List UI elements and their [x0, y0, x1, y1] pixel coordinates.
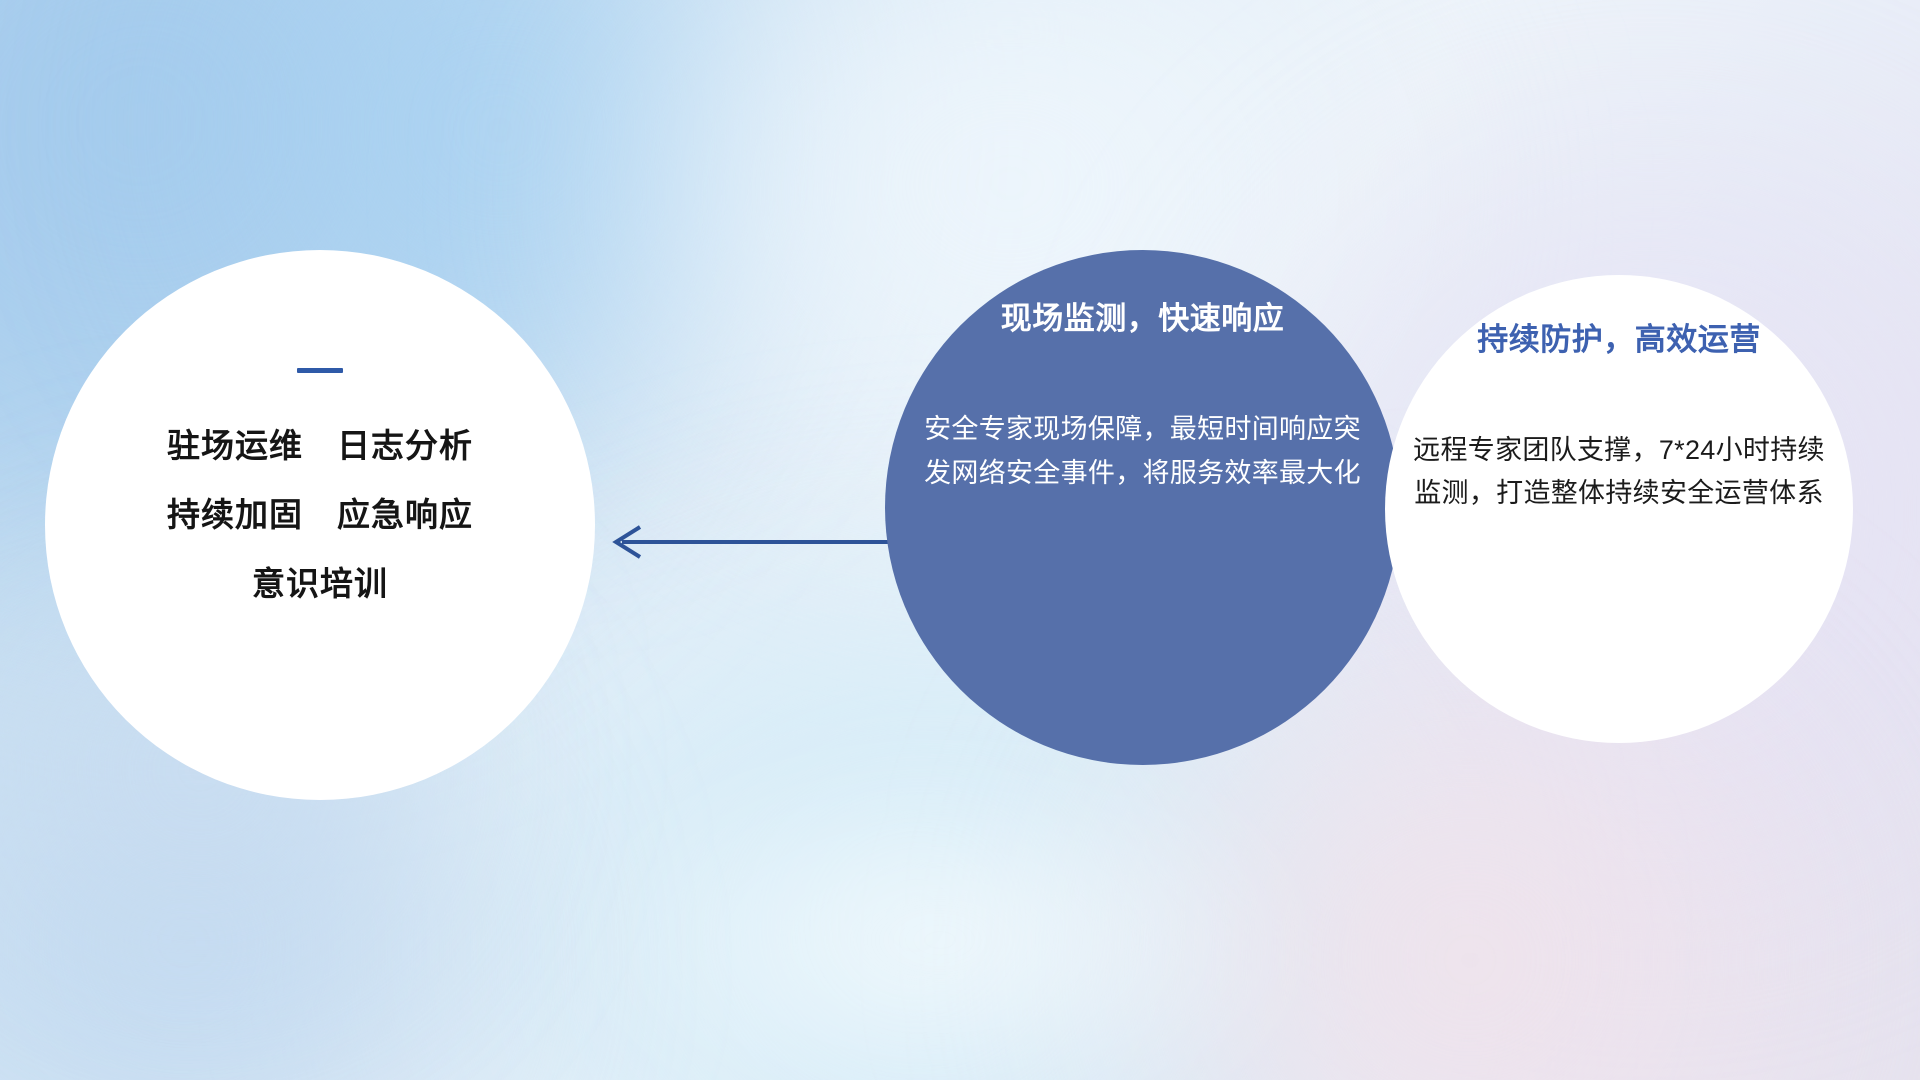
- connector-arrow: [600, 518, 900, 566]
- right-circle-title: 持续防护，高效运营: [1411, 323, 1827, 357]
- middle-circle-body: 安全专家现场保障，最短时间响应突发网络安全事件，将服务效率最大化: [923, 408, 1362, 495]
- diagram-stage: 驻场运维 日志分析 持续加固 应急响应 意识培训 现场监测，快速响应 安全专家现…: [0, 0, 1920, 1080]
- left-circle-line-1: 驻场运维 日志分析: [91, 429, 549, 462]
- middle-circle-title: 现场监测，快速响应: [923, 302, 1362, 336]
- right-circle-body: 远程专家团队支撑，7*24小时持续监测，打造整体持续安全运营体系: [1411, 429, 1827, 515]
- right-circle-content: 持续防护，高效运营 远程专家团队支撑，7*24小时持续监测，打造整体持续安全运营…: [1385, 323, 1853, 515]
- middle-circle-content: 现场监测，快速响应 安全专家现场保障，最短时间响应突发网络安全事件，将服务效率最…: [885, 302, 1400, 496]
- left-service-circle[interactable]: 驻场运维 日志分析 持续加固 应急响应 意识培训: [45, 250, 595, 800]
- left-circle-line-2: 持续加固 应急响应: [91, 498, 549, 531]
- left-circle-line-3: 意识培训: [91, 567, 549, 600]
- left-circle-content: 驻场运维 日志分析 持续加固 应急响应 意识培训: [45, 368, 595, 600]
- middle-onsite-circle[interactable]: 现场监测，快速响应 安全专家现场保障，最短时间响应突发网络安全事件，将服务效率最…: [885, 250, 1400, 765]
- right-operations-circle[interactable]: 持续防护，高效运营 远程专家团队支撑，7*24小时持续监测，打造整体持续安全运营…: [1385, 275, 1853, 743]
- left-arrow-icon: [600, 518, 900, 566]
- dash-divider-icon: [297, 368, 343, 373]
